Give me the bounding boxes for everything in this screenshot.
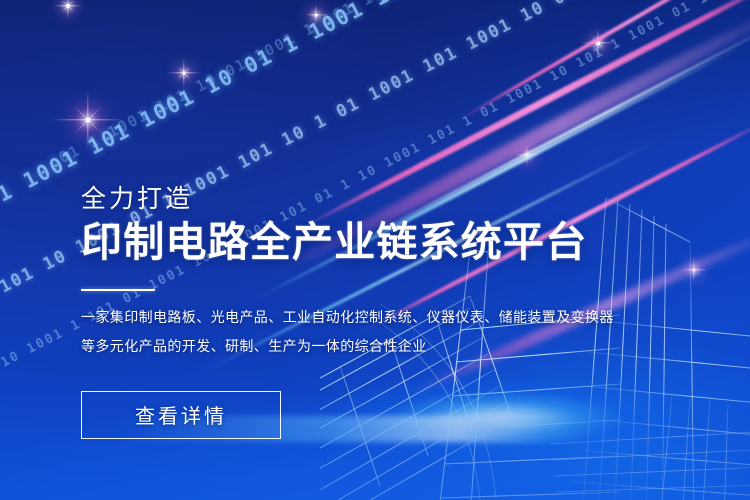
hero-description: 一家集印制电路板、光电产品、工业自动化控制系统、仪器仪表、储能装置及变换器 等多… xyxy=(81,307,681,357)
title-divider xyxy=(81,289,155,291)
description-line: 一家集印制电路板、光电产品、工业自动化控制系统、仪器仪表、储能装置及变换器 xyxy=(81,307,681,329)
hero-banner: 01 1 1001 101 10 01 1001 1 101 1001 10 0… xyxy=(0,0,750,500)
hero-eyebrow: 全力打造 xyxy=(81,186,681,214)
page-title: 印制电路全产业链系统平台 xyxy=(81,220,681,266)
view-details-button[interactable]: 查看详情 xyxy=(81,391,281,439)
description-line: 等多元化产品的开发、研制、生产为一体的综合性企业 xyxy=(81,336,681,358)
hero-content: 全力打造 印制电路全产业链系统平台 一家集印制电路板、光电产品、工业自动化控制系… xyxy=(81,186,681,439)
